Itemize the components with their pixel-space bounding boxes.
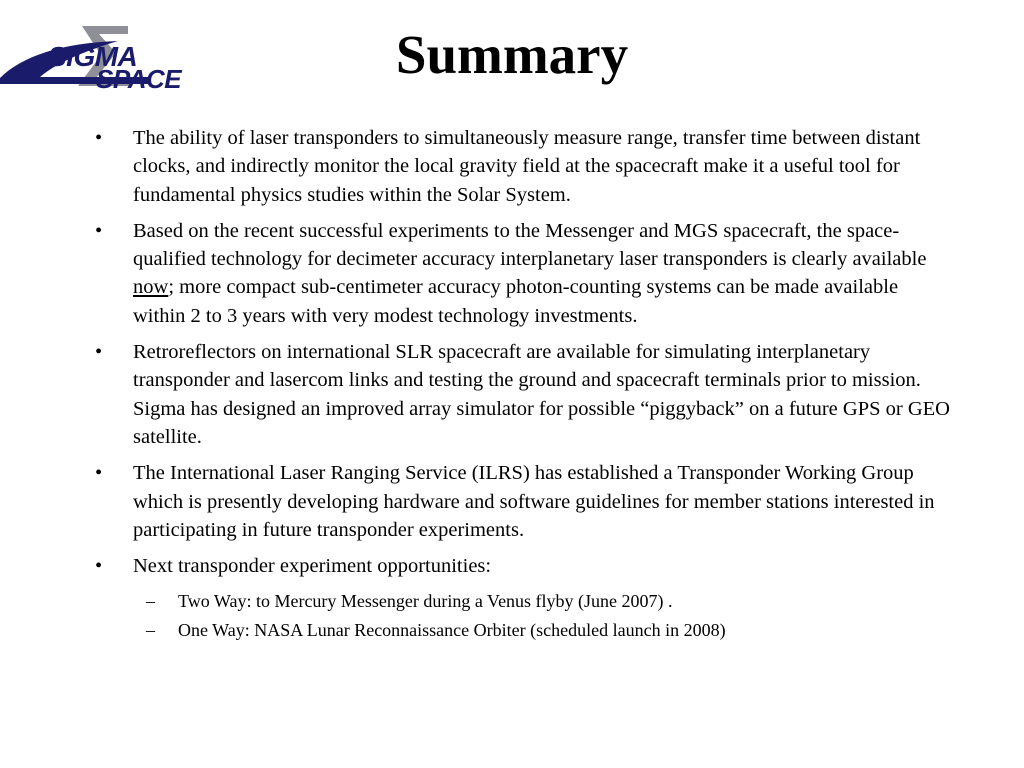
sigma-space-logo-graphic: SIGMA SPACE (0, 22, 225, 94)
bullet-list: • The ability of laser transponders to s… (88, 124, 954, 646)
list-item-text: Next transponder experiment opportunitie… (133, 552, 954, 580)
sub-list-item: – One Way: NASA Lunar Reconnaissance Orb… (88, 617, 954, 643)
list-item-text-pre: Based on the recent successful experimen… (133, 220, 926, 270)
list-item: • Based on the recent successful experim… (88, 217, 954, 330)
list-item: • Retroreflectors on international SLR s… (88, 338, 954, 451)
list-item-text: Based on the recent successful experimen… (133, 217, 954, 330)
logo-word-space: SPACE (96, 64, 182, 94)
sub-bullet-marker-icon: – (146, 588, 168, 614)
emphasis-now: now (133, 276, 168, 298)
bullet-marker-icon: • (95, 459, 115, 487)
sub-list-item-text: Two Way: to Mercury Messenger during a V… (178, 591, 673, 611)
sigma-space-logo: SIGMA SPACE (0, 22, 225, 94)
list-item: • The International Laser Ranging Servic… (88, 459, 954, 544)
list-item-text: The International Laser Ranging Service … (133, 459, 954, 544)
bullet-marker-icon: • (95, 217, 115, 245)
list-item: • Next transponder experiment opportunit… (88, 552, 954, 580)
sub-list-item: – Two Way: to Mercury Messenger during a… (88, 588, 954, 614)
sub-bullet-marker-icon: – (146, 617, 168, 643)
list-item-text-post: ; more compact sub-centimeter accuracy p… (133, 276, 898, 326)
page-title: Summary (232, 24, 792, 86)
list-item: • The ability of laser transponders to s… (88, 124, 954, 209)
sub-bullet-list: – Two Way: to Mercury Messenger during a… (88, 588, 954, 643)
sub-list-item-text: One Way: NASA Lunar Reconnaissance Orbit… (178, 620, 726, 640)
list-item-text: Retroreflectors on international SLR spa… (133, 338, 954, 451)
slide-canvas: SIGMA SPACE Summary • The ability of las… (0, 0, 1024, 768)
bullet-marker-icon: • (95, 124, 115, 152)
bullet-marker-icon: • (95, 338, 115, 366)
bullet-marker-icon: • (95, 552, 115, 580)
list-item-text: The ability of laser transponders to sim… (133, 124, 954, 209)
